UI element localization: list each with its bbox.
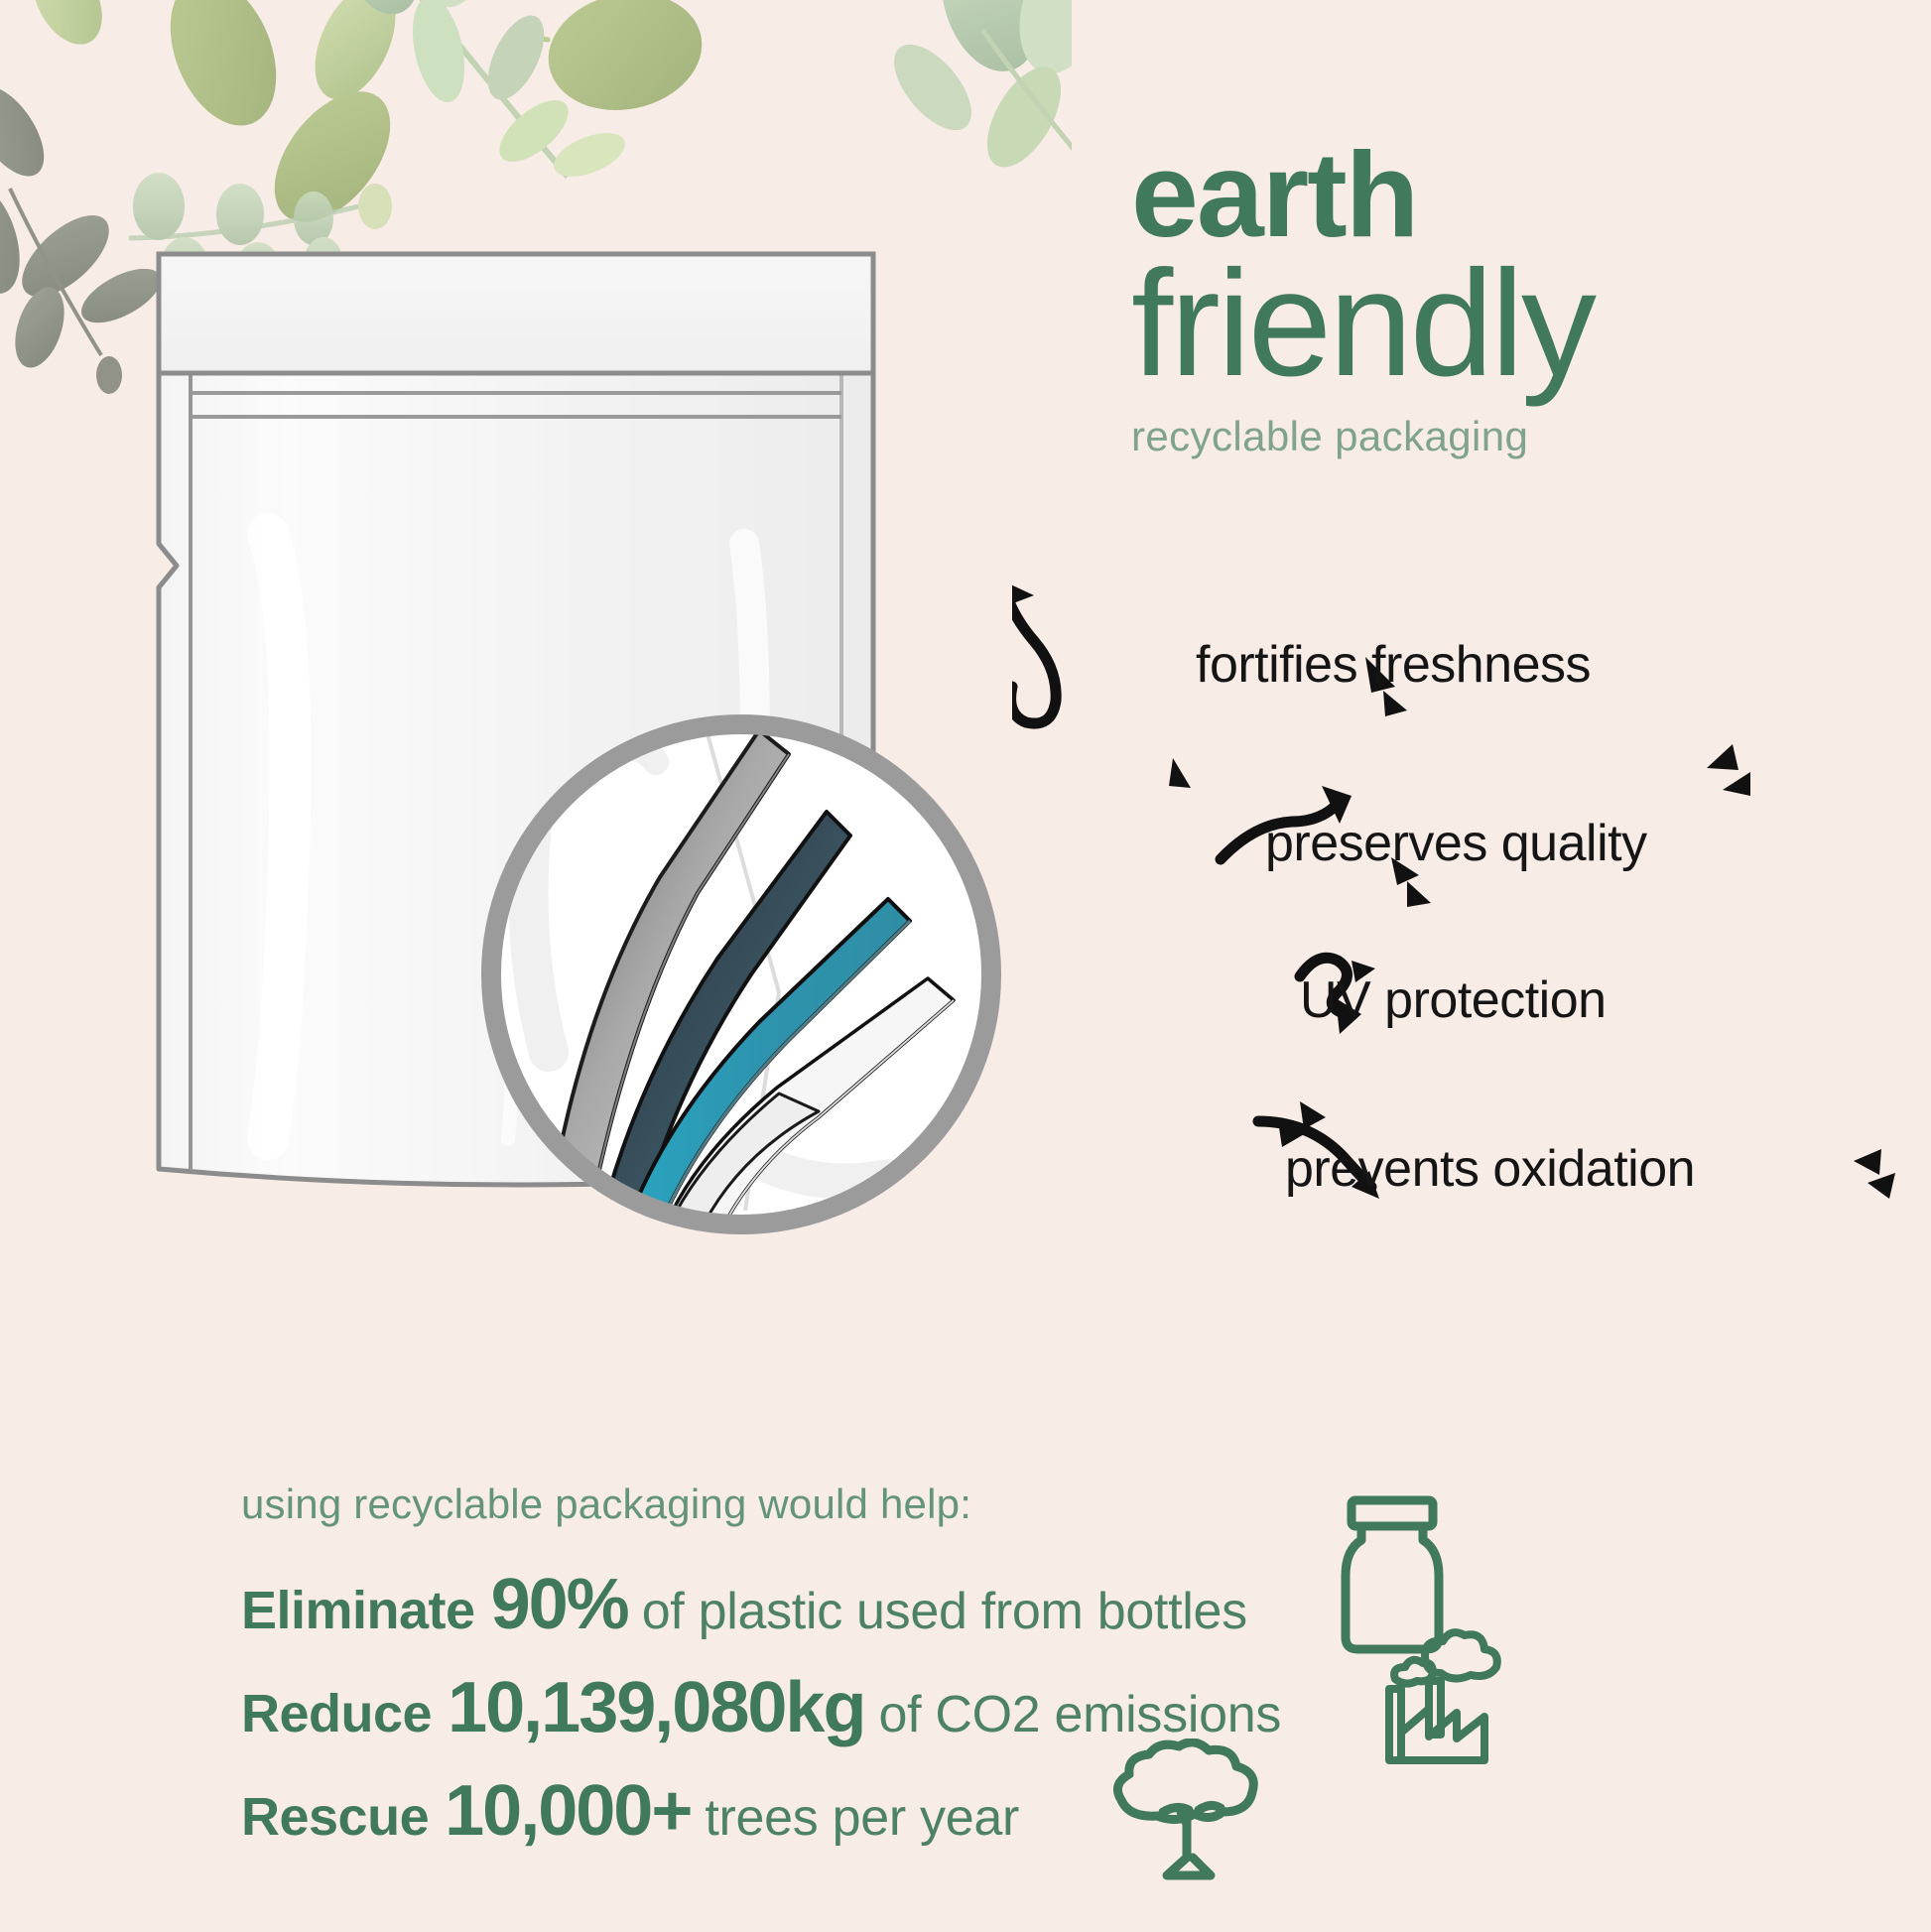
stat-row-eliminate: Eliminate 90% of plastic used from bottl… [241, 1564, 1382, 1645]
feature-label-uv-protection: UV protection [1300, 970, 1607, 1030]
factory-icon [1367, 1625, 1516, 1769]
spark-icon [1300, 1101, 1326, 1129]
feature-label-prevents-oxidation: prevents oxidation [1285, 1139, 1695, 1199]
feature-label-fortifies-freshness: fortifies freshness [1196, 635, 1591, 695]
stat-row-rescue: Rescue 10,000+ trees per year [241, 1770, 1382, 1852]
headline-line-2: friendly [1131, 254, 1905, 394]
headline-subtitle: recyclable packaging [1131, 413, 1905, 460]
stat-tail: of plastic used from bottles [642, 1582, 1247, 1641]
feature-label-preserves-quality: preserves quality [1265, 814, 1647, 873]
layer-cutaway-magnifier [461, 695, 1022, 1255]
spark-icon [1867, 1173, 1895, 1199]
spark-icon [1854, 1149, 1881, 1175]
infographic-canvas: earth friendly recyclable packaging fort… [0, 0, 1931, 1932]
headline-line-1: earth [1131, 139, 1905, 250]
stat-value: 10,000+ [445, 1770, 691, 1852]
spark-icon [1723, 772, 1750, 796]
stat-value: 90% [491, 1564, 628, 1645]
stat-row-reduce: Reduce 10,139,080kg of CO2 emissions [241, 1667, 1382, 1748]
stat-verb: Reduce [241, 1683, 432, 1744]
stat-verb: Eliminate [241, 1580, 475, 1641]
stat-tail: of CO2 emissions [878, 1685, 1281, 1744]
stats-intro: using recyclable packaging would help: [241, 1481, 1382, 1528]
headline-block: earth friendly recyclable packaging [1131, 139, 1905, 460]
stat-verb: Rescue [241, 1786, 429, 1848]
stat-value: 10,139,080kg [448, 1667, 864, 1748]
spark-icon [1707, 744, 1738, 770]
spark-icon [1407, 881, 1431, 907]
spark-icon [1169, 758, 1191, 788]
stats-block: using recyclable packaging would help: E… [241, 1481, 1382, 1873]
stat-tail: trees per year [705, 1788, 1019, 1848]
